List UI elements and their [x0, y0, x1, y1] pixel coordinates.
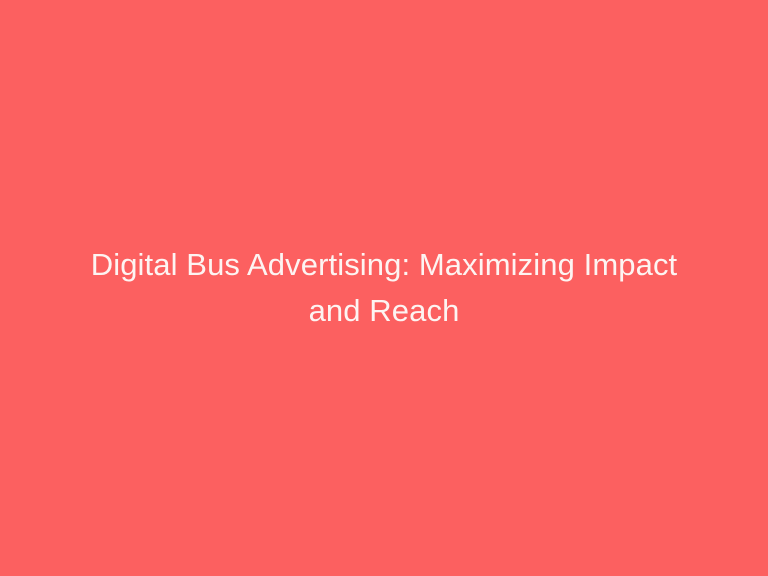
title-block: Digital Bus Advertising: Maximizing Impa… [64, 242, 704, 334]
page-title: Digital Bus Advertising: Maximizing Impa… [80, 242, 688, 334]
featured-image-card: Digital Bus Advertising: Maximizing Impa… [0, 0, 768, 576]
